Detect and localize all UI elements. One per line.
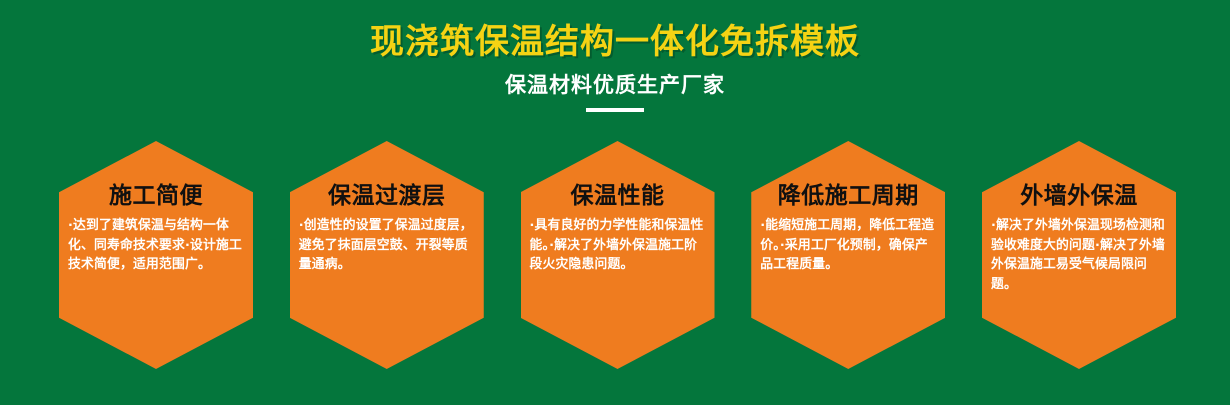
promo-banner: 现浇筑保温结构一体化免拆模板 保温材料优质生产厂家 施工简便 ·达到了建筑保温与… [0, 0, 1230, 405]
feature-card-3[interactable]: 保温性能 ·具有良好的力学性能和保温性能。·解决了外墙外保温施工阶段火灾隐患问题… [521, 141, 715, 369]
feature-card-3-title: 保温性能 [529, 183, 707, 210]
feature-hexagon-row: 施工简便 ·达到了建筑保温与结构一体化、同寿命技术要求·设计施工技术简便，适用范… [59, 141, 1176, 369]
feature-card-2-body: ·创造性的设置了保温过度层，避免了抹面层空鼓、开裂等质量通病。 [298, 216, 476, 275]
feature-card-4[interactable]: 降低施工周期 ·能缩短施工周期，降低工程造价。·采用工厂化预制，确保产品工程质量… [751, 141, 945, 369]
feature-card-4-title: 降低施工周期 [759, 183, 937, 210]
feature-card-2[interactable]: 保温过渡层 ·创造性的设置了保温过度层，避免了抹面层空鼓、开裂等质量通病。 [290, 141, 484, 369]
feature-card-4-body: ·能缩短施工周期，降低工程造价。·采用工厂化预制，确保产品工程质量。 [759, 216, 937, 275]
feature-card-2-content: 保温过渡层 ·创造性的设置了保温过度层，避免了抹面层空鼓、开裂等质量通病。 [298, 183, 476, 275]
page-title: 现浇筑保温结构一体化免拆模板 [0, 0, 1230, 62]
feature-card-1-content: 施工简便 ·达到了建筑保温与结构一体化、同寿命技术要求·设计施工技术简便，适用范… [67, 183, 245, 275]
feature-card-2-title: 保温过渡层 [298, 183, 476, 210]
feature-card-3-content: 保温性能 ·具有良好的力学性能和保温性能。·解决了外墙外保温施工阶段火灾隐患问题… [529, 183, 707, 275]
page-subtitle: 保温材料优质生产厂家 [0, 62, 1230, 98]
title-divider [586, 108, 644, 112]
feature-card-1[interactable]: 施工简便 ·达到了建筑保温与结构一体化、同寿命技术要求·设计施工技术简便，适用范… [59, 141, 253, 369]
feature-card-1-title: 施工简便 [67, 183, 245, 210]
feature-card-1-body: ·达到了建筑保温与结构一体化、同寿命技术要求·设计施工技术简便，适用范围广。 [67, 216, 245, 275]
feature-card-5-content: 外墙外保温 ·解决了外墙外保温现场检测和验收难度大的问题·解决了外墙外保温施工易… [990, 183, 1168, 294]
feature-card-5-title: 外墙外保温 [990, 183, 1168, 210]
feature-card-5-body: ·解决了外墙外保温现场检测和验收难度大的问题·解决了外墙外保温施工易受气候局限问… [990, 216, 1168, 294]
feature-card-5[interactable]: 外墙外保温 ·解决了外墙外保温现场检测和验收难度大的问题·解决了外墙外保温施工易… [982, 141, 1176, 369]
banner-header: 现浇筑保温结构一体化免拆模板 保温材料优质生产厂家 [0, 0, 1230, 112]
feature-card-3-body: ·具有良好的力学性能和保温性能。·解决了外墙外保温施工阶段火灾隐患问题。 [529, 216, 707, 275]
feature-card-4-content: 降低施工周期 ·能缩短施工周期，降低工程造价。·采用工厂化预制，确保产品工程质量… [759, 183, 937, 275]
